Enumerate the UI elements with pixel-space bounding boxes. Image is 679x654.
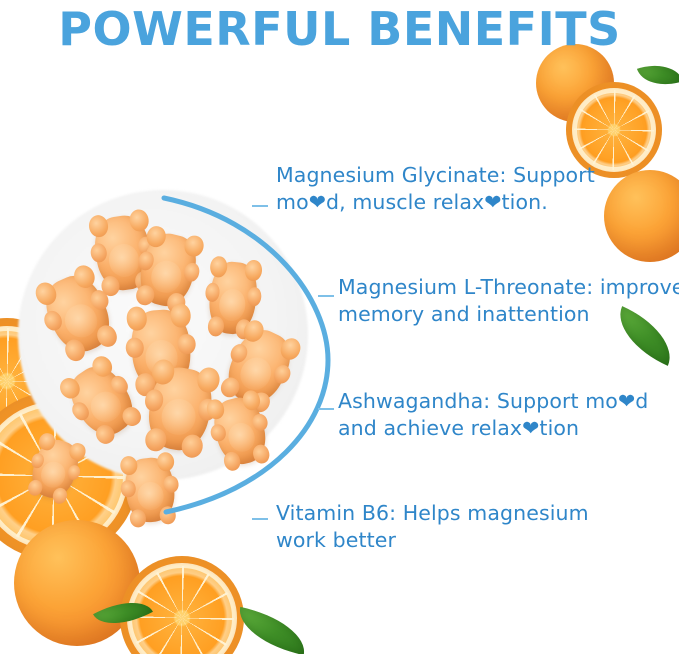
connector-dash-1 [252, 205, 268, 207]
benefit-line: Magnesium Glycinate: Support [276, 162, 595, 189]
orange-whole-right [604, 170, 679, 262]
leaf-bottom [233, 607, 310, 654]
blue-arc-accent [120, 190, 350, 520]
benefit-line: work better [276, 527, 589, 554]
benefit-magnesium-l-threonate: Magnesium L-Threonate: improve memory an… [338, 274, 679, 328]
benefit-line: Vitamin B6: Helps magnesium [276, 500, 589, 527]
benefit-line: Magnesium L-Threonate: improve [338, 274, 679, 301]
product-benefits-infographic: POWERFUL BENEFITS Magnesium Glycinate: S… [0, 0, 679, 654]
benefit-magnesium-glycinate: Magnesium Glycinate: Support mo❤d, muscl… [276, 162, 595, 216]
connector-dash-3 [318, 408, 334, 410]
connector-dash-4 [252, 518, 268, 520]
benefit-line: Ashwagandha: Support mo❤d [338, 388, 648, 415]
benefit-vitamin-b6: Vitamin B6: Helps magnesium work better [276, 500, 589, 554]
leaf-top-right [637, 56, 679, 93]
benefit-line: memory and inattention [338, 301, 679, 328]
benefit-ashwagandha: Ashwagandha: Support mo❤d and achieve re… [338, 388, 648, 442]
page-title: POWERFUL BENEFITS [0, 2, 679, 56]
benefit-line: mo❤d, muscle relax❤tion. [276, 189, 595, 216]
benefit-line: and achieve relax❤tion [338, 415, 648, 442]
connector-dash-2 [318, 295, 334, 297]
